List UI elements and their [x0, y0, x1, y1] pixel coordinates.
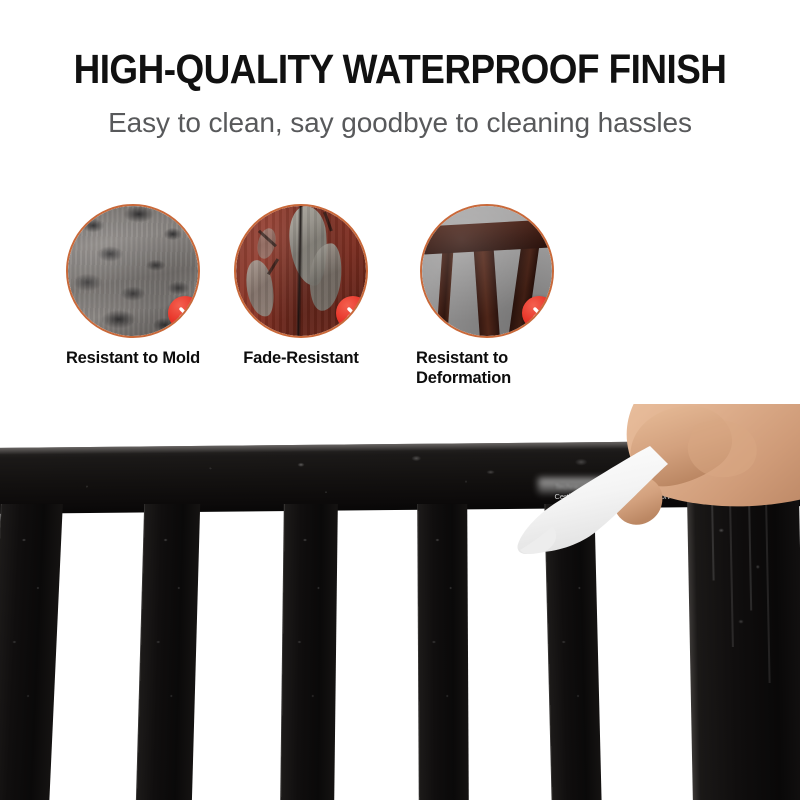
paint-crack: [257, 230, 276, 247]
warped-post: [435, 242, 454, 336]
paint-crack: [267, 258, 279, 275]
feature-label: Resistant to Deformation: [412, 348, 566, 388]
railing-baluster: [280, 504, 338, 800]
hand-with-cloth: [498, 404, 800, 578]
feature-image-deformation: [420, 204, 554, 338]
warped-post: [473, 240, 501, 336]
product-photo: Technical Support and E-Warranty Certifi…: [0, 404, 800, 800]
railing-baluster: [0, 504, 63, 800]
feature-label: Fade-Resistant: [221, 348, 381, 368]
paint-peel: [287, 206, 329, 286]
x-mark-icon: [522, 296, 554, 330]
feature-list: Resistant to Mold: [0, 204, 800, 394]
feature-item-resistant-to-deformation: Resistant to Deformation: [420, 204, 566, 388]
warped-top-rail: [422, 218, 552, 257]
paint-peel: [255, 227, 279, 261]
railing-baluster: [136, 504, 200, 800]
x-mark-icon: [168, 296, 200, 330]
board-seam: [295, 206, 303, 336]
feature-label: Resistant to Mold: [51, 348, 215, 368]
baluster-droplets: [136, 504, 200, 800]
paint-peel: [306, 241, 344, 312]
product-feature-banner: HIGH-QUALITY WATERPROOF FINISH Easy to c…: [0, 0, 800, 800]
page-title: HIGH-QUALITY WATERPROOF FINISH: [40, 44, 760, 94]
page-subtitle: Easy to clean, say goodbye to cleaning h…: [0, 104, 800, 142]
baluster-droplets: [280, 504, 338, 800]
feature-image-fade: [234, 204, 368, 338]
paint-crack: [323, 212, 333, 232]
baluster-droplets: [0, 504, 63, 800]
feature-item-fade-resistant: Fade-Resistant: [234, 204, 381, 368]
paint-peel: [242, 258, 277, 318]
feature-image-mold: [66, 204, 200, 338]
feature-item-resistant-to-mold: Resistant to Mold: [66, 204, 215, 368]
x-mark-icon: [336, 296, 368, 330]
photo-top-whitespace: [0, 0, 800, 46]
baluster-droplets: [417, 504, 469, 800]
railing-baluster: [417, 504, 469, 800]
